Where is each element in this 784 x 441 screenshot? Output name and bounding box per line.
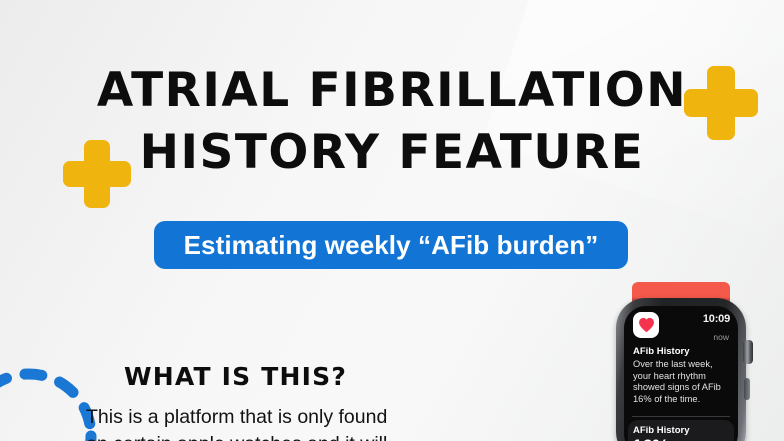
afib-history-card-title: AFib History <box>633 425 689 436</box>
notification-body-line-2: your heart rhythm <box>633 371 733 383</box>
notification-body-line-3: showed signs of AFib <box>633 382 733 394</box>
section-body-line-1: This is a platform that is only found <box>86 404 416 431</box>
digital-crown-icon <box>743 340 753 364</box>
section-heading: WHAT IS THIS? <box>124 362 347 391</box>
watch-screen: 10:09 now AFib History Over the last wee… <box>624 306 738 441</box>
subtitle-banner-label: Estimating weekly “AFib burden” <box>184 230 599 261</box>
subtitle-banner: Estimating weekly “AFib burden” <box>154 221 628 269</box>
section-body-text: This is a platform that is only found on… <box>86 404 416 441</box>
page-title-line-2: HISTORY FEATURE <box>0 122 784 184</box>
side-button-icon <box>744 378 750 400</box>
notification-body-line-1: Over the last week, <box>633 359 733 371</box>
watch-clock: 10:09 <box>703 313 730 325</box>
page-title: ATRIAL FIBRILLATION HISTORY FEATURE <box>0 60 784 184</box>
afib-history-card-value: 16% <box>632 437 669 441</box>
slide-canvas: ATRIAL FIBRILLATION HISTORY FEATURE Esti… <box>0 0 784 441</box>
divider <box>632 416 730 417</box>
page-title-line-1: ATRIAL FIBRILLATION <box>0 60 784 122</box>
section-body-line-2: on certain apple watches and it will <box>86 431 416 441</box>
apple-watch-image: 10:09 now AFib History Over the last wee… <box>604 282 776 441</box>
notification-body-line-4: 16% of the time. <box>633 394 733 406</box>
notification-body: Over the last week, your heart rhythm sh… <box>633 359 733 405</box>
notification-timestamp: now <box>713 332 729 342</box>
notification-title: AFib History <box>633 346 689 357</box>
heart-glyph <box>638 317 655 333</box>
heart-icon <box>633 312 659 338</box>
